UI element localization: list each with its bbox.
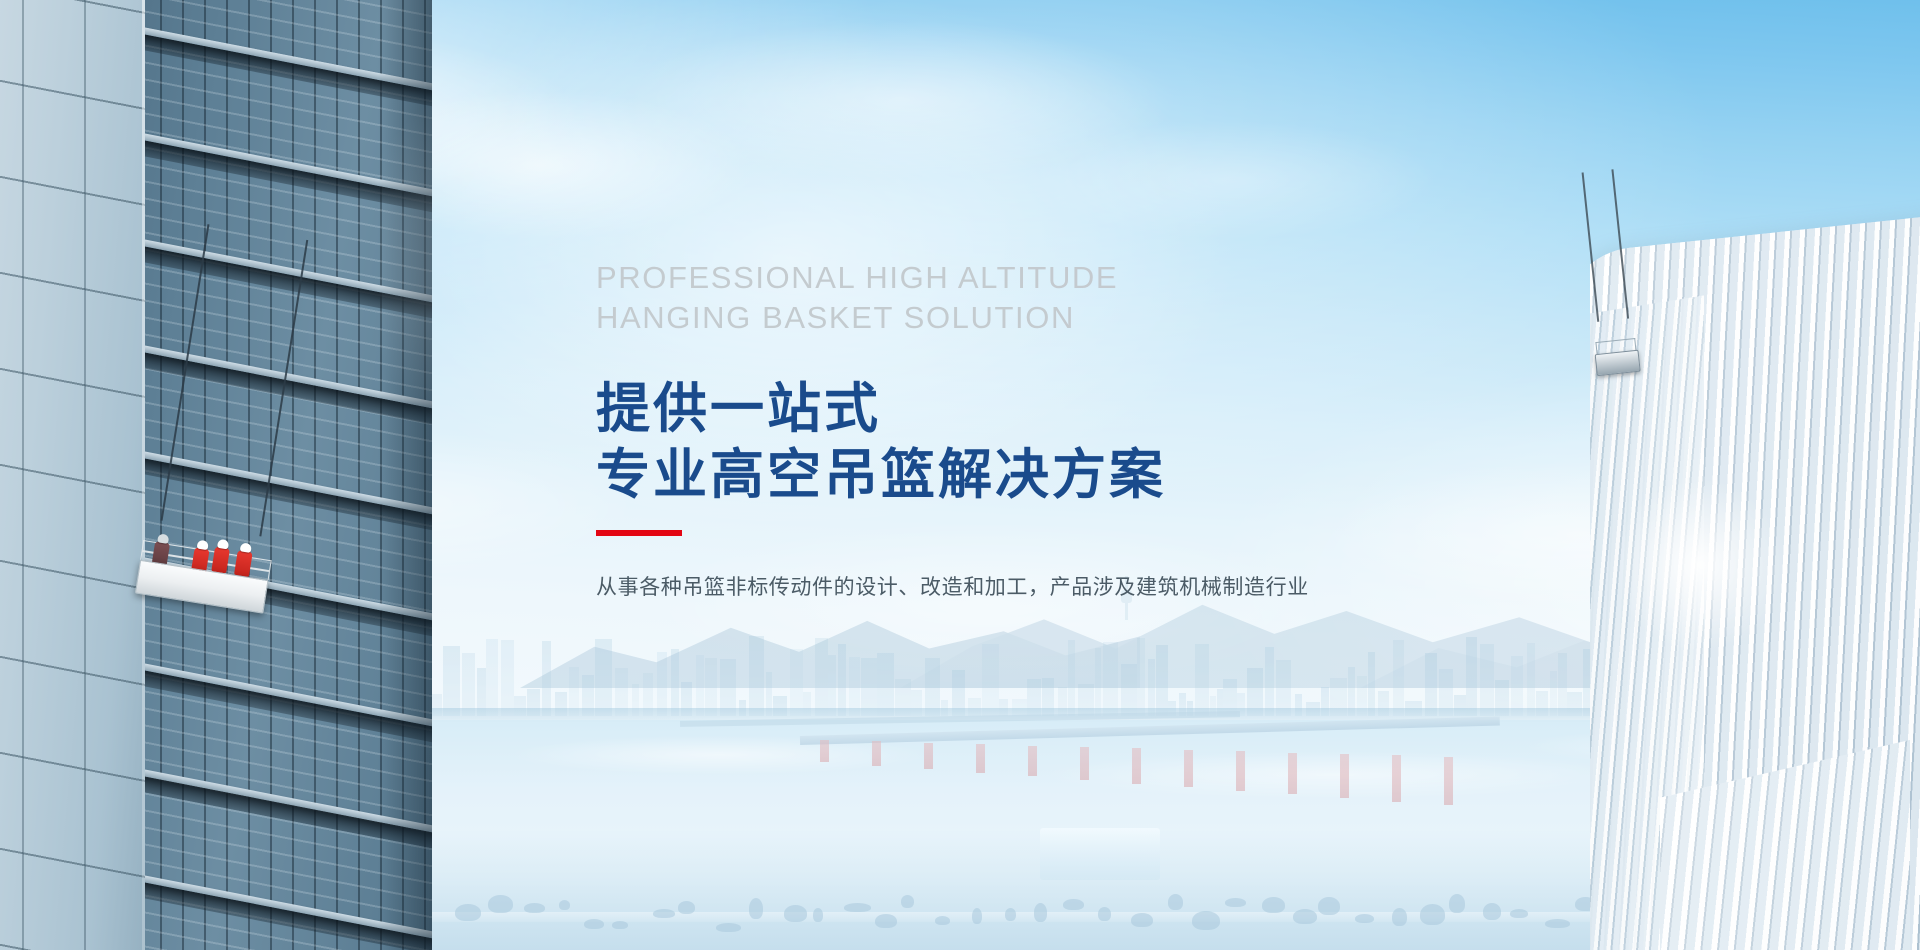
sun-glare [1610,475,1790,655]
eyebrow-line-2: HANGING BASKET SOLUTION [596,298,1516,338]
tower-corner-panels [0,0,145,950]
headline-line-1: 提供一站式 [596,376,1516,442]
hero-banner: PROFESSIONAL HIGH ALTITUDE HANGING BASKE… [0,0,1920,950]
eyebrow-line-1: PROFESSIONAL HIGH ALTITUDE [596,258,1516,298]
hero-subtitle: 从事各种吊篮非标传动件的设计、改造和加工，产品涉及建筑机械制造行业 [596,572,1516,604]
right-white-tower [1590,195,1920,950]
left-glass-tower [0,0,432,950]
platform-basket [1595,350,1641,376]
suspended-platform-right [1591,318,1640,376]
hero-copy-block: PROFESSIONAL HIGH ALTITUDE HANGING BASKE… [596,258,1516,604]
facade-shadow [378,0,432,950]
headline-line-2: 专业高空吊篮解决方案 [596,442,1516,508]
red-accent-rule [596,530,682,536]
